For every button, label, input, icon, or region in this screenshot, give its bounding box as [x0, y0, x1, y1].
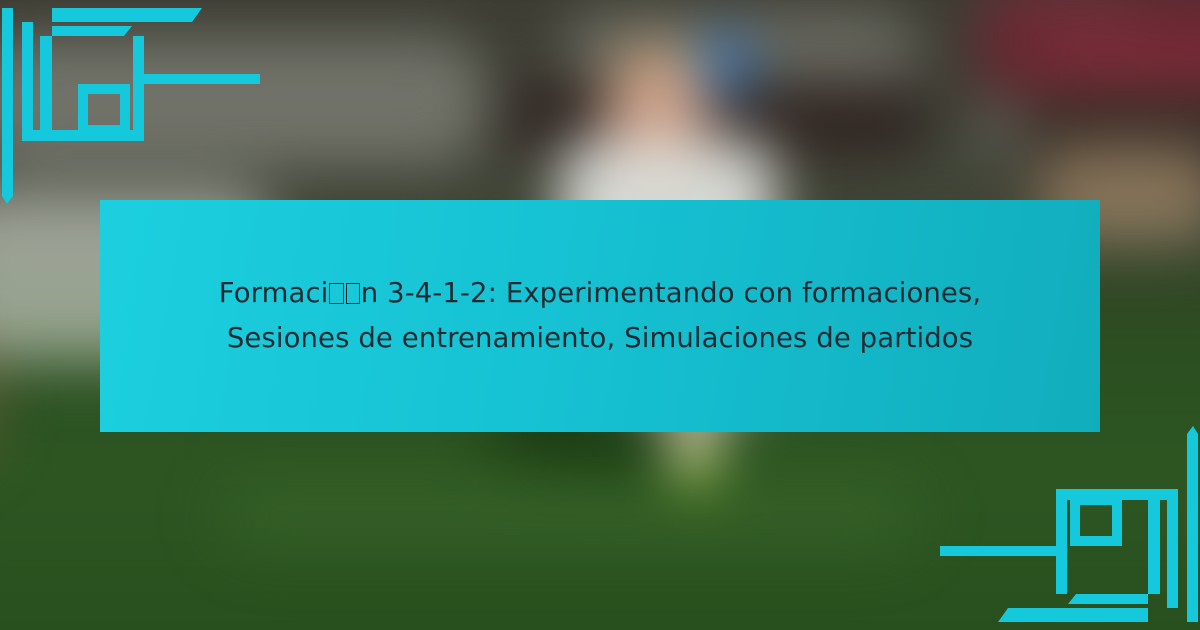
blob-stadium-band-left [0, 35, 490, 165]
missing-glyph-box-1 [329, 283, 343, 304]
blob-player-boot [675, 455, 717, 481]
share-card: Formacin 3-4-1-2: Experimentando con for… [0, 0, 1200, 630]
title-line-2: Sesiones de entrenamiento, Simulaciones … [227, 322, 973, 354]
blob-grass-highlight [220, 485, 920, 545]
page-title: Formacin 3-4-1-2: Experimentando con for… [160, 271, 1040, 360]
title-line-1-suffix: n 3-4-1-2: Experimentando con formacione… [361, 277, 981, 309]
title-line-1-prefix: Formaci [219, 277, 329, 309]
title-banner: Formacin 3-4-1-2: Experimentando con for… [100, 200, 1100, 432]
missing-glyph-box-2 [346, 283, 360, 304]
